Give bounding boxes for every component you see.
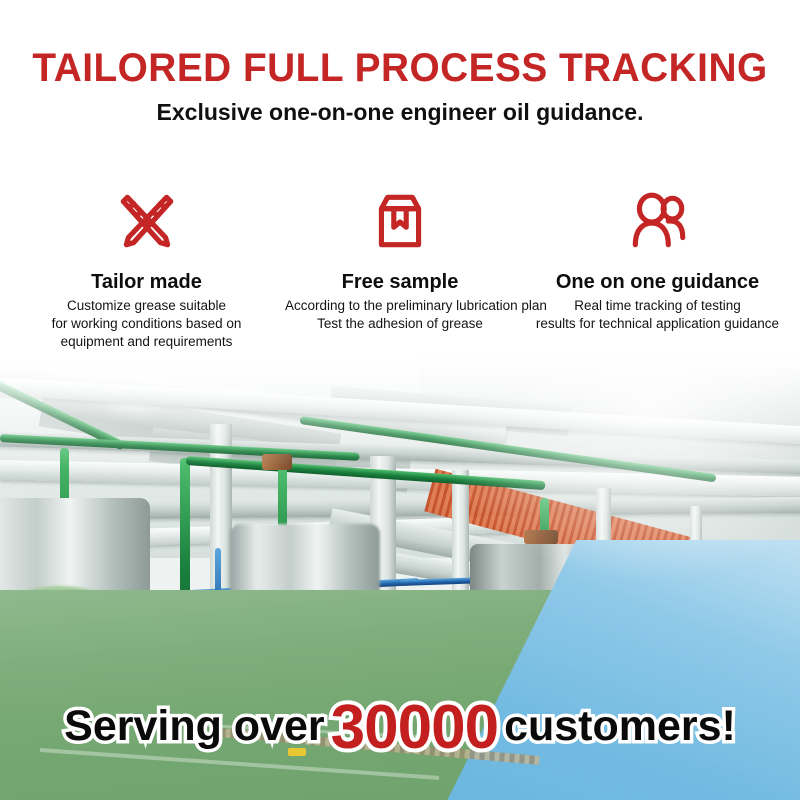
page-title: TAILORED FULL PROCESS TRACKING [12,48,788,88]
page-subtitle: Exclusive one-on-one engineer oil guidan… [0,99,800,125]
feature-desc-line: results for technical application guidan… [515,315,800,333]
feature-row: Tailor made Customize grease suitable fo… [0,185,800,350]
feature-title: Free sample [285,271,515,293]
header-block: TAILORED FULL PROCESS TRACKING Exclusive… [0,0,800,150]
feature-title: Tailor made [8,271,285,293]
feature-description: According to the preliminary lubrication… [285,297,515,333]
banner-prefix: Serving over [64,705,325,748]
feature-desc-line: Customize grease suitable [8,297,285,315]
feature-tailor-made: Tailor made Customize grease suitable fo… [0,185,285,350]
feature-one-on-one-guidance: One on one guidance Real time tracking o… [515,185,800,350]
feature-desc-line: According to the preliminary lubrication… [285,297,515,315]
two-people-icon [515,185,800,257]
feature-description: Real time tracking of testing results fo… [515,297,800,333]
feature-desc-line: Real time tracking of testing [515,297,800,315]
feature-free-sample: Free sample According to the preliminary… [285,185,515,350]
ruler-pencil-icon [8,185,285,257]
photo-top-fade [0,348,800,468]
infographic-page: TAILORED FULL PROCESS TRACKING Exclusive… [0,0,800,800]
bottom-banner: Serving over 30000 customers! [0,686,800,766]
feature-description: Customize grease suitable for working co… [8,297,285,350]
package-box-icon [285,185,515,257]
feature-desc-line: equipment and requirements [8,333,285,351]
banner-suffix: customers! [504,705,736,748]
feature-title: One on one guidance [515,271,800,293]
feature-desc-line: for working conditions based on [8,315,285,333]
banner-customer-count: 30000 [331,697,498,759]
feature-desc-line: Test the adhesion of grease [285,315,515,333]
